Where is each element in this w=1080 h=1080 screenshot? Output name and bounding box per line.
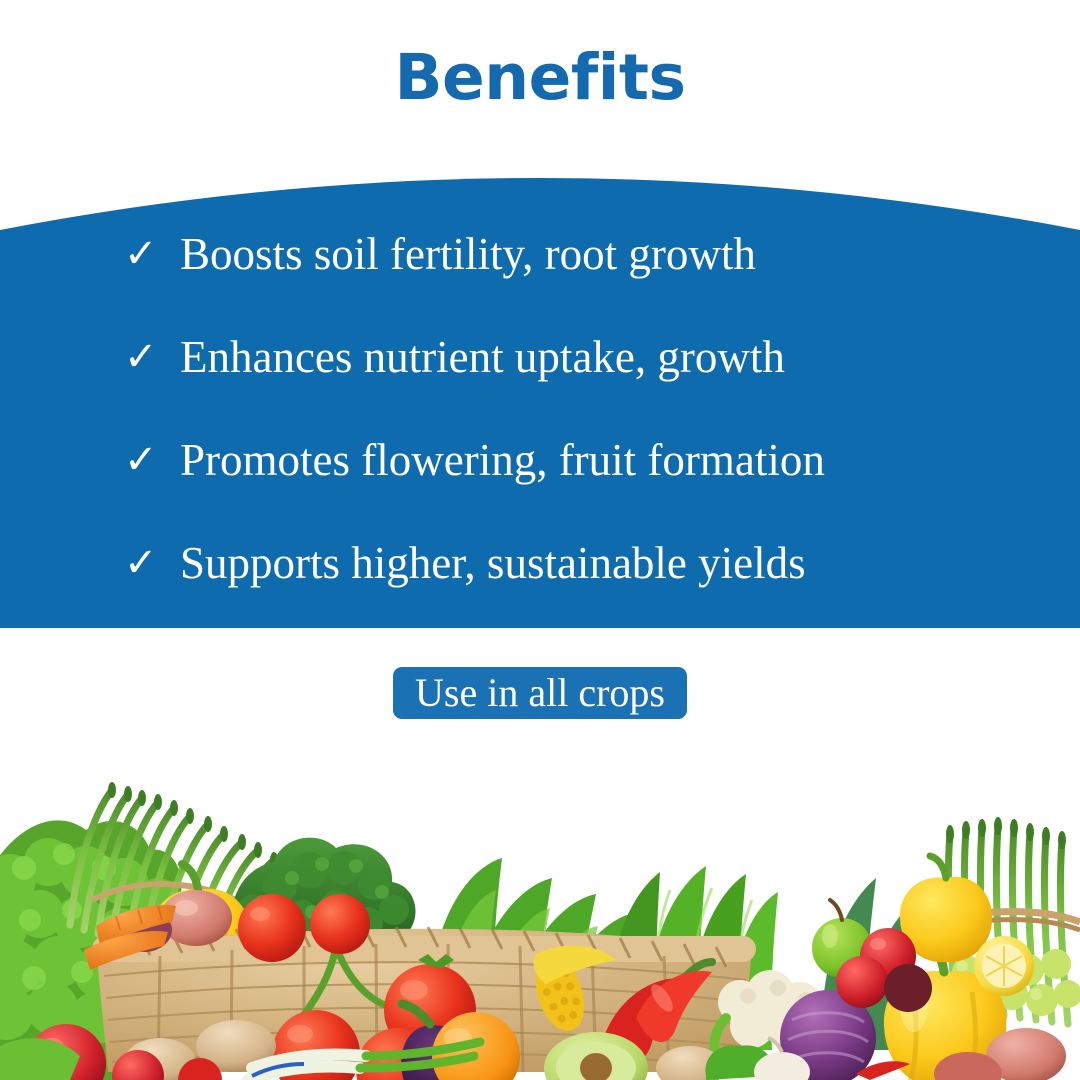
benefits-list: ✓ Boosts soil fertility, root growth ✓ E… xyxy=(0,140,1080,630)
check-icon: ✓ xyxy=(124,234,158,274)
page-title: Benefits xyxy=(0,46,1080,109)
benefit-label: Supports higher, sustainable yields xyxy=(180,541,806,586)
benefit-label: Boosts soil fertility, root growth xyxy=(180,232,756,277)
benefits-panel: ✓ Boosts soil fertility, root growth ✓ E… xyxy=(0,140,1080,630)
check-icon: ✓ xyxy=(124,337,158,377)
use-in-all-crops-badge: Use in all crops xyxy=(393,667,687,719)
check-icon: ✓ xyxy=(124,543,158,583)
benefits-poster: Benefits ✓ Boosts soil fertility, root g… xyxy=(0,0,1080,1080)
benefit-label: Promotes flowering, fruit formation xyxy=(180,438,825,483)
benefit-item: ✓ Boosts soil fertility, root growth xyxy=(124,232,984,277)
benefit-item: ✓ Supports higher, sustainable yields xyxy=(124,541,984,586)
benefit-item: ✓ Promotes flowering, fruit formation xyxy=(124,438,984,483)
produce-illustration xyxy=(0,750,1080,1080)
check-icon: ✓ xyxy=(124,440,158,480)
produce-photo xyxy=(0,750,1080,1080)
benefit-item: ✓ Enhances nutrient uptake, growth xyxy=(124,335,984,380)
benefit-label: Enhances nutrient uptake, growth xyxy=(180,335,785,380)
